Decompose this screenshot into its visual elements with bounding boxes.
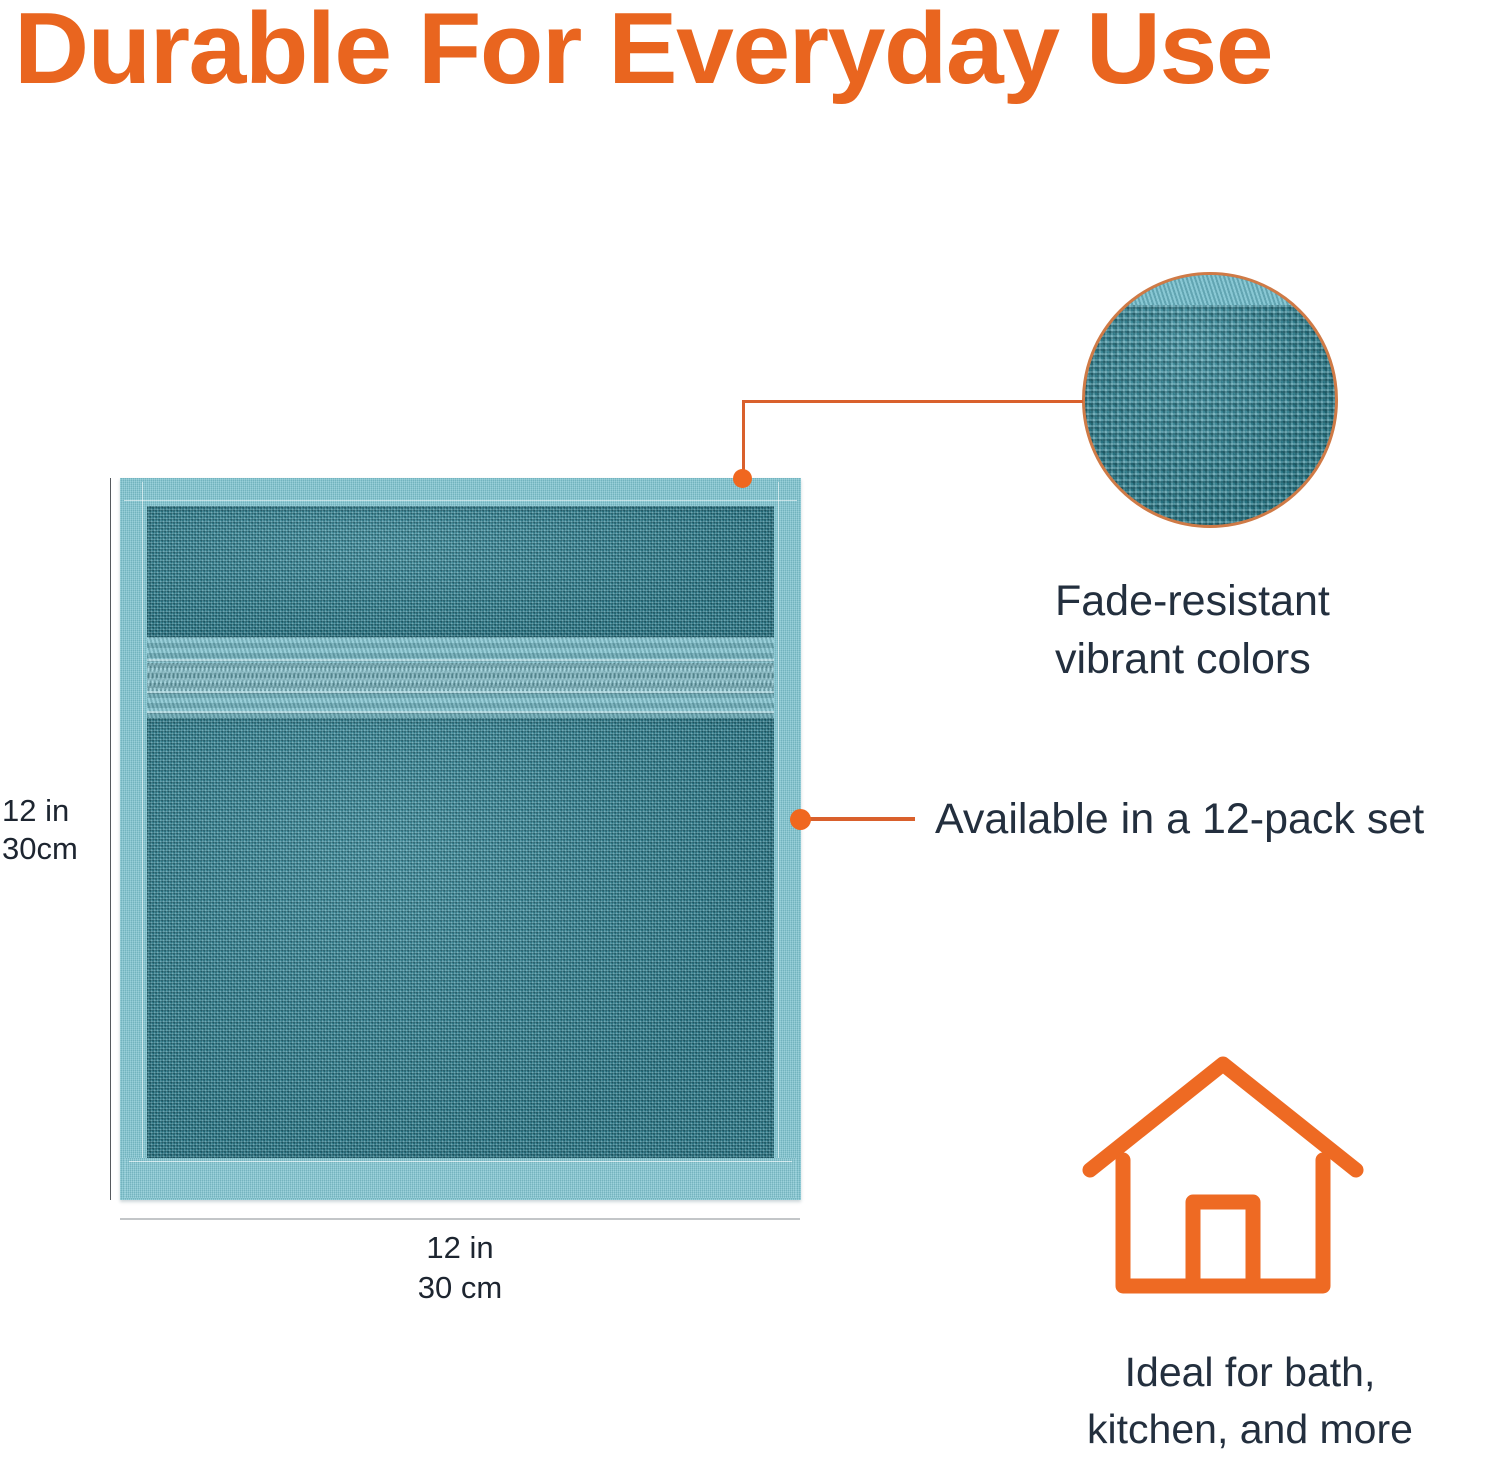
page-title: Durable For Everyday Use <box>14 0 1500 106</box>
callout-fade-resistant: Fade-resistant vibrant colors <box>1055 572 1475 688</box>
house-door-icon-path <box>1193 1202 1253 1286</box>
callout-leader-line-vertical-top <box>742 400 745 480</box>
callout-fade-resistant-line1: Fade-resistant <box>1055 572 1475 630</box>
towel-terry-panel-top <box>147 506 774 637</box>
towel-stitch-line-bottom <box>129 1161 792 1162</box>
towel-band-rule-lower <box>147 691 774 693</box>
height-label-inches: 12 in <box>2 792 102 830</box>
width-dimension-line <box>120 1218 800 1220</box>
height-label-centimeters: 30cm <box>2 830 102 868</box>
towel-stitch-line-top <box>124 500 797 501</box>
towel-stitch-line-right <box>778 482 779 1196</box>
orange-dot-marker-edge <box>790 809 811 830</box>
callout-ideal-for-rooms: Ideal for bath, kitchen, and more <box>1020 1344 1480 1457</box>
callout-ideal-for-line2: kitchen, and more <box>1020 1401 1480 1457</box>
callout-leader-line-horizontal-top <box>742 400 1083 403</box>
magnifier-hem-slice <box>1085 275 1335 305</box>
fabric-closeup-magnifier <box>1082 272 1338 528</box>
house-roof-icon-path <box>1090 1064 1356 1170</box>
infographic-canvas: Durable For Everyday Use 12 in 30cm 12 i… <box>0 0 1500 1457</box>
orange-dot-marker-corner <box>733 469 752 488</box>
towel-bottom-hem <box>125 1158 796 1198</box>
towel-band-rule-upper <box>147 659 774 661</box>
house-icon <box>1078 1050 1368 1300</box>
width-label-inches: 12 in <box>280 1228 640 1268</box>
product-image-washcloth <box>120 478 801 1200</box>
callout-ideal-for-line1: Ideal for bath, <box>1020 1344 1480 1401</box>
width-dimension-label: 12 in 30 cm <box>280 1228 640 1308</box>
house-walls-icon-path <box>1123 1160 1323 1286</box>
towel-chevron-stripe <box>147 663 774 691</box>
callout-twelve-pack: Available in a 12-pack set <box>935 793 1495 845</box>
towel-dobby-border-band <box>147 637 774 718</box>
towel-stitch-line-left <box>142 482 143 1196</box>
width-label-centimeters: 30 cm <box>280 1268 640 1308</box>
callout-fade-resistant-line2: vibrant colors <box>1055 630 1475 688</box>
height-dimension-line <box>110 478 111 1200</box>
height-dimension-label: 12 in 30cm <box>2 792 102 868</box>
towel-terry-panel-body <box>147 718 774 1158</box>
callout-leader-line-horizontal-mid <box>805 817 915 821</box>
towel-band-rule-bottom <box>147 711 774 713</box>
